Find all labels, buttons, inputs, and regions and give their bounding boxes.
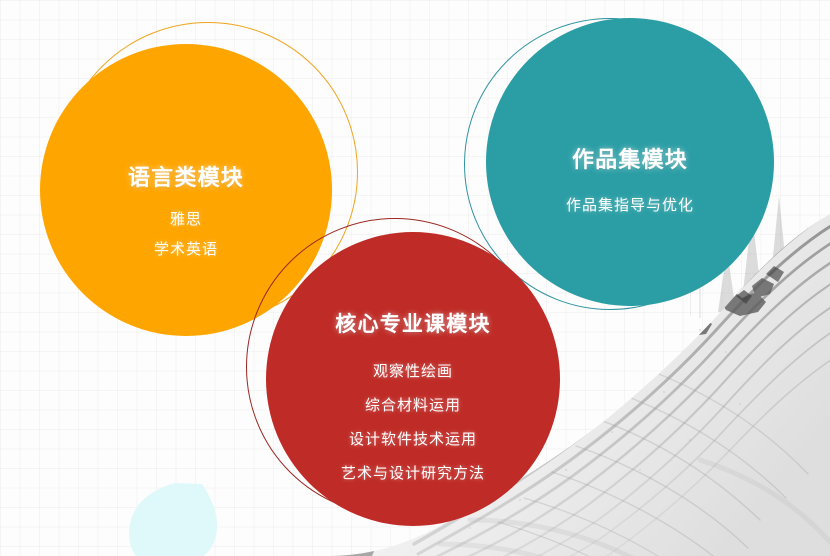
module-portfolio-title: 作品集模块 xyxy=(572,142,688,174)
module-language-title: 语言类模块 xyxy=(128,160,244,192)
infographic-canvas: 语言类模块 雅思 学术英语 作品集模块 作品集指导与优化 核心专业课模块 观察性… xyxy=(0,0,830,556)
module-core-item-2: 综合材料运用 xyxy=(365,394,461,415)
module-core-title: 核心专业课模块 xyxy=(335,308,490,338)
module-core[interactable]: 核心专业课模块 观察性绘画 综合材料运用 设计软件技术运用 艺术与设计研究方法 xyxy=(246,218,576,548)
module-core-item-3: 设计软件技术运用 xyxy=(349,428,477,449)
mint-leaf-decoration xyxy=(128,482,234,556)
module-core-item-1: 观察性绘画 xyxy=(373,360,453,381)
module-language-item-2: 学术英语 xyxy=(154,238,218,259)
module-portfolio-item-1: 作品集指导与优化 xyxy=(566,194,694,215)
module-core-disc[interactable]: 核心专业课模块 观察性绘画 综合材料运用 设计软件技术运用 艺术与设计研究方法 xyxy=(266,232,560,526)
module-core-item-4: 艺术与设计研究方法 xyxy=(341,462,485,483)
module-language-item-1: 雅思 xyxy=(170,208,202,229)
